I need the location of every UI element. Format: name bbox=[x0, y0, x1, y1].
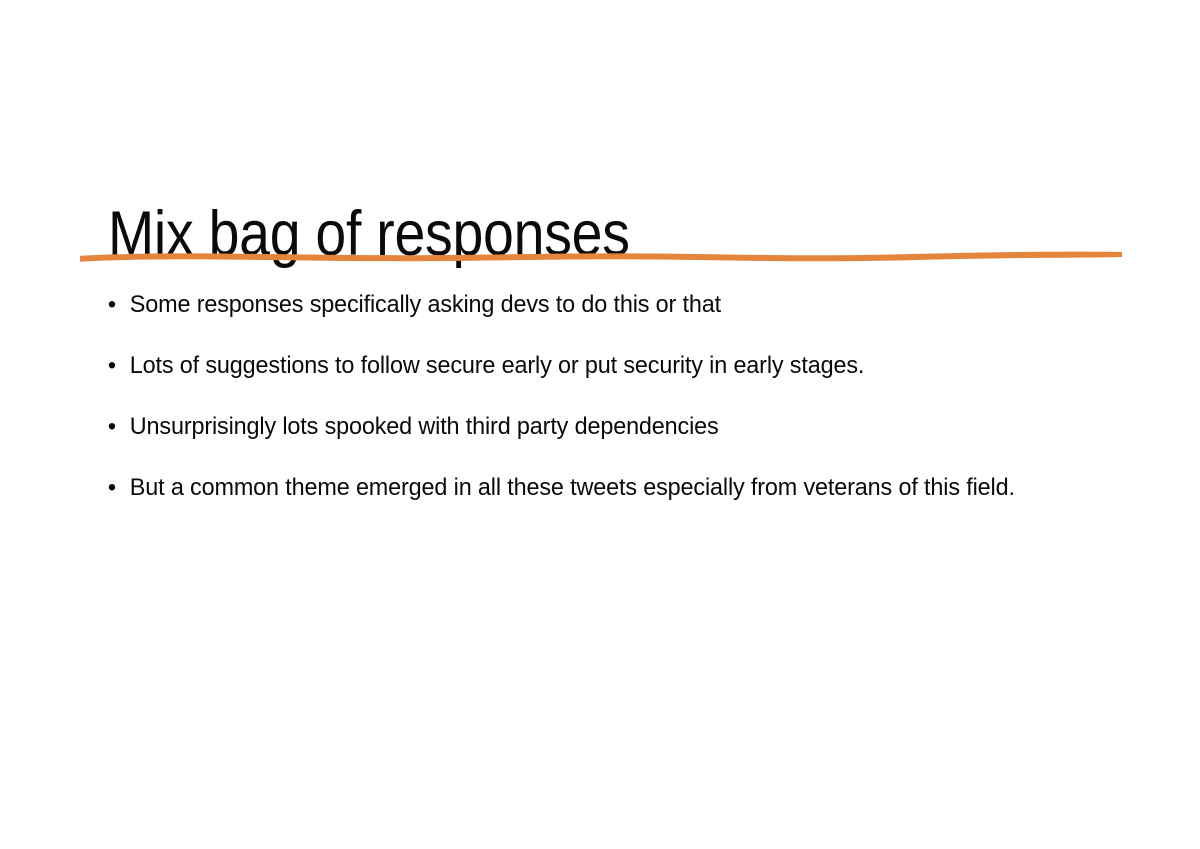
bullet-point-icon: • bbox=[108, 292, 121, 318]
list-item: • Unsurprisingly lots spooked with third… bbox=[104, 414, 1116, 440]
page-title: Mix bag of responses bbox=[108, 198, 1006, 270]
list-item: • But a common theme emerged in all thes… bbox=[104, 475, 1116, 501]
list-item: • Some responses specifically asking dev… bbox=[104, 292, 1116, 318]
list-item-text: Lots of suggestions to follow secure ear… bbox=[130, 352, 864, 379]
bullet-list: • Some responses specifically asking dev… bbox=[104, 292, 1164, 501]
bullet-point-icon: • bbox=[108, 475, 121, 501]
bullet-point-icon: • bbox=[108, 414, 121, 440]
presentation-slide: Mix bag of responses • Some responses sp… bbox=[0, 0, 1200, 849]
list-item-text: Some responses specifically asking devs … bbox=[130, 291, 721, 318]
list-item-text: Unsurprisingly lots spooked with third p… bbox=[130, 413, 719, 440]
bullet-point-icon: • bbox=[108, 353, 121, 379]
list-item: • Lots of suggestions to follow secure e… bbox=[104, 353, 1116, 379]
list-item-text: But a common theme emerged in all these … bbox=[130, 474, 1015, 501]
